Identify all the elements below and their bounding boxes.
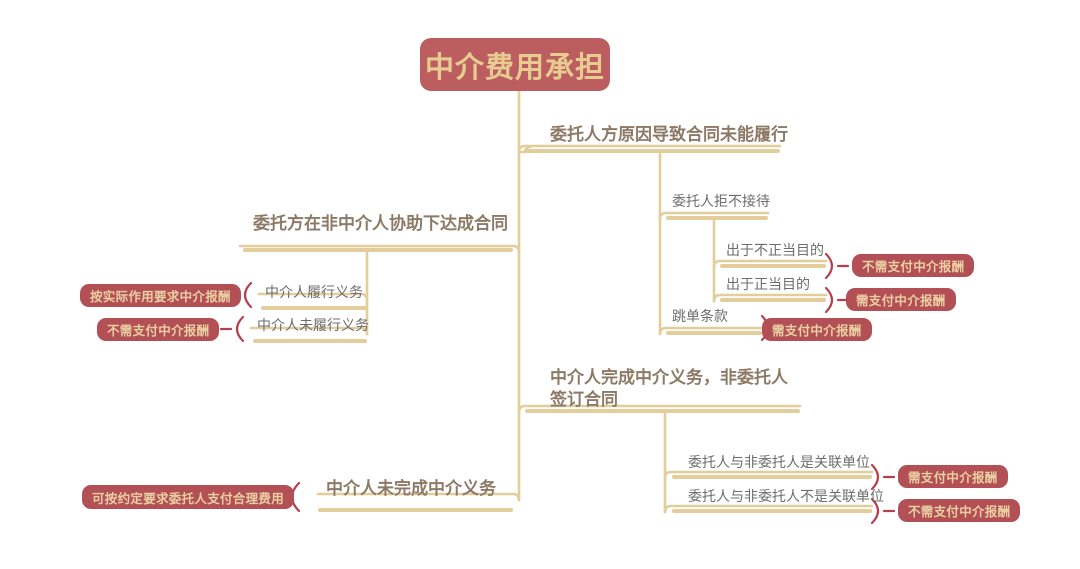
leaf-underline-1-1-2 — [720, 298, 826, 302]
result-pill-3-2[interactable]: 不需支付中介报酬 — [898, 499, 1020, 522]
leaf-underline-2-1 — [261, 306, 367, 310]
mindmap-canvas: 中介费用承担 委托人方原因导致合同未能履行 委托人拒不接待 出于不正当目的 不需… — [0, 0, 1080, 569]
leaf-node-1-1[interactable]: 委托人拒不接待 — [668, 191, 774, 214]
branch-underline-2 — [243, 248, 513, 252]
result-pill-3-1[interactable]: 需支付中介报酬 — [898, 465, 1008, 488]
leaf-node-1-1-1[interactable]: 出于不正当目的 — [722, 240, 828, 263]
branch-node-1[interactable]: 委托人方原因导致合同未能履行 — [546, 124, 792, 150]
root-node[interactable]: 中介费用承担 — [420, 38, 610, 91]
leaf-node-3-1[interactable]: 委托人与非委托人是关联单位 — [684, 452, 874, 475]
leaf-node-1-1-2[interactable]: 出于正当目的 — [722, 274, 814, 297]
branch-node-2[interactable]: 委托方在非中介人协助下达成合同 — [249, 213, 512, 239]
result-pill-2-1[interactable]: 按实际作用要求中介报酬 — [80, 284, 241, 307]
branch-underline-3 — [525, 409, 800, 413]
branch-underline-4 — [318, 508, 513, 512]
branch-underline-1 — [525, 149, 780, 153]
leaf-node-2-1[interactable]: 中介人履行义务 — [261, 282, 367, 305]
result-pill-1-2[interactable]: 需支付中介报酬 — [762, 318, 872, 341]
leaf-underline-1-2 — [666, 331, 762, 335]
result-pill-1-1-1[interactable]: 不需支付中介报酬 — [852, 254, 974, 277]
result-pill-4[interactable]: 可按约定要求委托人支付合理费用 — [82, 485, 294, 509]
leaf-underline-1-1-1 — [720, 264, 826, 268]
leaf-node-3-2[interactable]: 委托人与非委托人不是关联单位 — [684, 486, 888, 509]
result-pill-1-1-2[interactable]: 需支付中介报酬 — [846, 288, 956, 311]
leaf-underline-1-1 — [666, 216, 768, 220]
leaf-underline-2-2 — [253, 339, 367, 343]
result-pill-2-2[interactable]: 不需支付中介报酬 — [97, 318, 219, 341]
leaf-underline-3-2 — [672, 509, 872, 513]
branch-node-4[interactable]: 中介人未完成中介义务 — [322, 478, 500, 504]
leaf-node-1-2[interactable]: 跳单条款 — [668, 306, 732, 329]
leaf-underline-3-1 — [672, 475, 872, 479]
leaf-node-2-2[interactable]: 中介人未履行义务 — [253, 315, 373, 338]
branch-node-3[interactable]: 中介人完成中介义务，非委托人签订合同 — [546, 367, 804, 415]
